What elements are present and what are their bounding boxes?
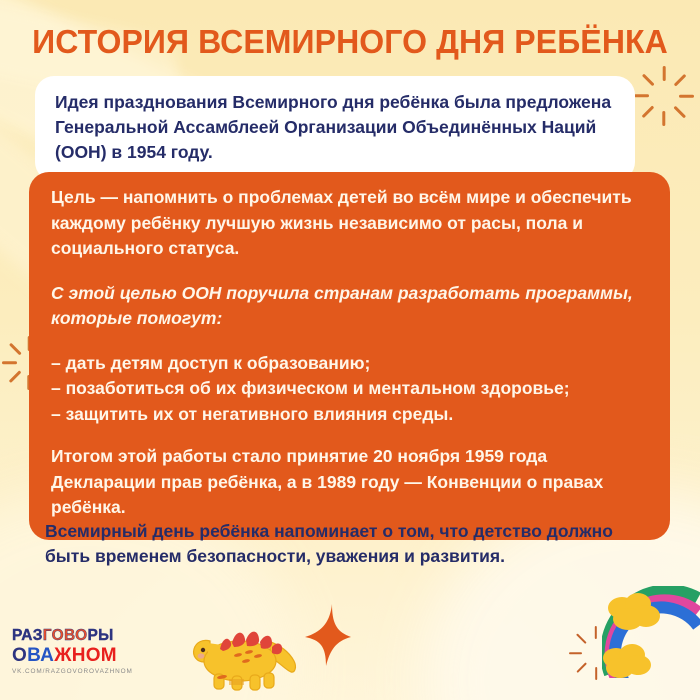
logo-text-ry: РЫ	[87, 628, 113, 644]
bullet-item: – позаботиться об их физическом и ментал…	[51, 376, 648, 402]
rainbow-icon	[602, 586, 700, 678]
starburst-ray	[679, 95, 694, 98]
logo-text-zh: Ж	[54, 646, 71, 665]
intro-card: Идея празднования Всемирного дня ребёнка…	[35, 76, 635, 181]
logo-line-two: О ВАЖНОМ	[12, 646, 152, 665]
starburst-ray	[595, 626, 597, 639]
closing-text: Всемирный день ребёнка напоминает о том,…	[45, 519, 645, 569]
starburst-ray	[663, 111, 666, 126]
logo-text-o: О	[12, 646, 27, 665]
starburst-ray	[576, 662, 587, 673]
logo-text-govo: ГОВО	[43, 628, 88, 644]
starburst-ray	[674, 74, 686, 86]
closing-statement: Всемирный день ребёнка напоминает о том,…	[45, 519, 645, 569]
brand-logo[interactable]: РАЗГОВОРЫ О ВАЖНОМ VK.COM/RAZGOVOROVAZHN…	[12, 628, 152, 675]
goal-paragraph: Цель — напомнить о проблемах детей во вс…	[51, 185, 648, 262]
starburst-ray	[576, 633, 587, 644]
poster-root: ИСТОРИЯ ВСЕМИРНОГО ДНЯ РЕБЁНКА Идея праз…	[0, 0, 700, 700]
programs-paragraph: С этой целью ООН поручила странам разраб…	[51, 281, 648, 332]
logo-line-one: РАЗГОВОРЫ	[12, 628, 152, 644]
starburst-ray	[674, 106, 686, 118]
logo-text-va: ВА	[27, 646, 54, 665]
starburst-ray	[569, 652, 582, 654]
spacer	[51, 427, 648, 444]
starburst-ray	[9, 371, 21, 383]
starburst-ray	[642, 74, 654, 86]
starburst-ray	[9, 343, 21, 355]
logo-text-nom: НОМ	[72, 646, 117, 665]
dinosaur-icon	[176, 619, 298, 695]
bullet-item: – защитить их от негативного влияния сре…	[51, 402, 648, 428]
starburst-ray	[2, 362, 17, 365]
body-card: Цель — напомнить о проблемах детей во вс…	[29, 172, 670, 540]
logo-url[interactable]: VK.COM/RAZGOVOROVAZHNOM	[12, 668, 152, 675]
page-title: ИСТОРИЯ ВСЕМИРНОГО ДНЯ РЕБЁНКА	[11, 22, 690, 62]
logo-text-raz: РАЗ	[12, 628, 43, 644]
starburst-icon	[628, 60, 700, 132]
bullet-item: – дать детям доступ к образованию;	[51, 351, 648, 377]
starburst-ray	[595, 667, 597, 680]
result-paragraph: Итогом этой работы стало принятие 20 ноя…	[51, 444, 648, 521]
intro-text: Идея празднования Всемирного дня ребёнка…	[55, 90, 615, 165]
four-point-star-icon	[305, 604, 351, 666]
spacer	[51, 262, 648, 281]
starburst-ray	[663, 66, 666, 81]
starburst-ray	[634, 95, 649, 98]
spacer	[51, 332, 648, 351]
starburst-ray	[642, 106, 654, 118]
